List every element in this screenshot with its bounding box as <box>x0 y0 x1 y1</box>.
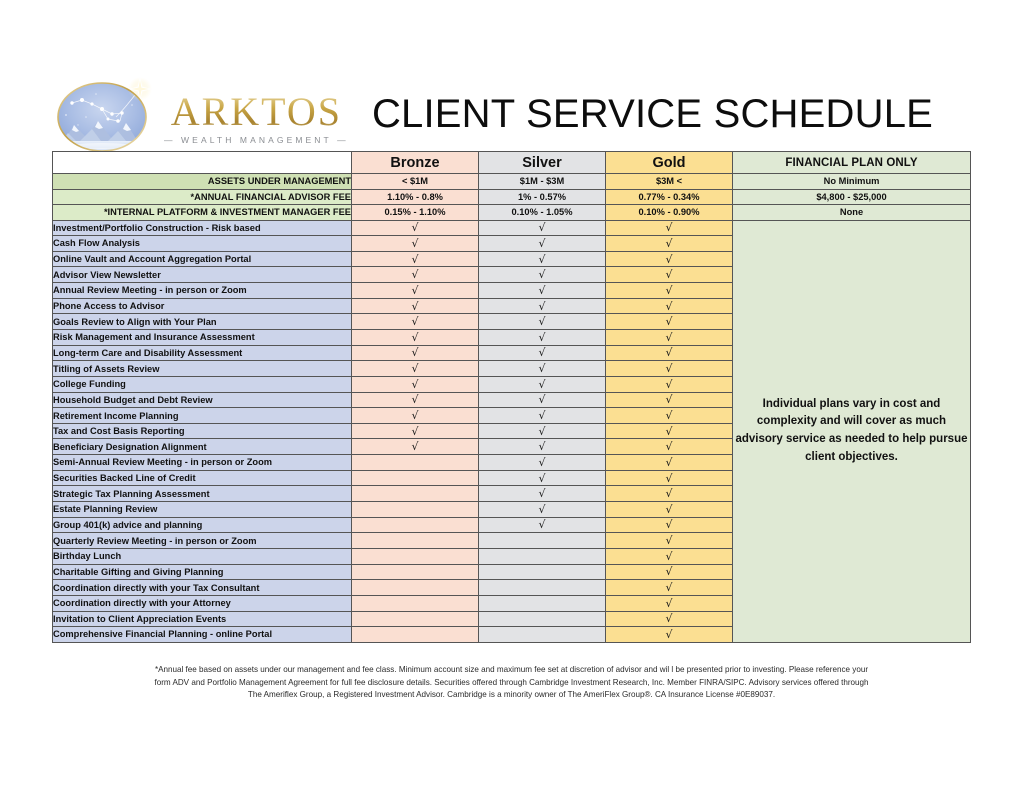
check-icon: √ <box>538 440 545 453</box>
check-icon: √ <box>538 253 545 266</box>
service-cell-gold: √ <box>606 533 733 549</box>
check-icon: √ <box>411 253 418 266</box>
service-cell-bronze: √ <box>352 298 479 314</box>
service-cell-bronze <box>352 548 479 564</box>
service-row-label: Titling of Assets Review <box>53 361 352 377</box>
tier-header-bronze: Bronze <box>352 152 479 174</box>
service-cell-silver: √ <box>479 376 606 392</box>
service-cell-silver: √ <box>479 423 606 439</box>
service-cell-silver: √ <box>479 345 606 361</box>
check-icon: √ <box>665 425 672 438</box>
check-icon: √ <box>665 456 672 469</box>
service-cell-bronze: √ <box>352 392 479 408</box>
service-row-label: Strategic Tax Planning Assessment <box>53 486 352 502</box>
service-cell-gold: √ <box>606 267 733 283</box>
service-cell-gold: √ <box>606 548 733 564</box>
fee-row: ASSETS UNDER MANAGEMENT< $1M$1M - $3M$3M… <box>53 174 971 190</box>
service-row-label: Tax and Cost Basis Reporting <box>53 423 352 439</box>
disclaimer-line-2: form ADV and Portfolio Management Agreem… <box>52 677 971 690</box>
service-cell-gold: √ <box>606 283 733 299</box>
constellation-logo-icon <box>52 77 156 155</box>
service-cell-silver <box>479 548 606 564</box>
check-icon: √ <box>411 425 418 438</box>
fee-value-plan: No Minimum <box>733 174 971 190</box>
service-cell-bronze: √ <box>352 251 479 267</box>
tier-header-silver: Silver <box>479 152 606 174</box>
service-cell-bronze <box>352 517 479 533</box>
fee-value-plan: $4,800 - $25,000 <box>733 189 971 205</box>
service-row-label: College Funding <box>53 376 352 392</box>
service-cell-gold: √ <box>606 392 733 408</box>
service-cell-bronze: √ <box>352 220 479 236</box>
service-cell-gold: √ <box>606 486 733 502</box>
fee-row: *ANNUAL FINANCIAL ADVISOR FEE1.10% - 0.8… <box>53 189 971 205</box>
service-cell-silver: √ <box>479 408 606 424</box>
service-cell-bronze: √ <box>352 423 479 439</box>
disclaimer-line-3: The Ameriflex Group, a Registered Invest… <box>52 689 971 702</box>
service-row-label: Retirement Income Planning <box>53 408 352 424</box>
service-cell-bronze: √ <box>352 267 479 283</box>
check-icon: √ <box>665 503 672 516</box>
check-icon: √ <box>538 315 545 328</box>
check-icon: √ <box>411 237 418 250</box>
fee-row-label: *INTERNAL PLATFORM & INVESTMENT MANAGER … <box>53 205 352 221</box>
service-row-label: Securities Backed Line of Credit <box>53 470 352 486</box>
service-cell-bronze: √ <box>352 439 479 455</box>
check-icon: √ <box>665 487 672 500</box>
disclaimer-footer: *Annual fee based on assets under our ma… <box>52 664 971 702</box>
service-cell-gold: √ <box>606 517 733 533</box>
service-cell-silver: √ <box>479 220 606 236</box>
check-icon: √ <box>665 253 672 266</box>
service-cell-gold: √ <box>606 251 733 267</box>
service-cell-silver: √ <box>479 314 606 330</box>
service-row-label: Estate Planning Review <box>53 502 352 518</box>
service-cell-silver: √ <box>479 439 606 455</box>
check-icon: √ <box>538 456 545 469</box>
check-icon: √ <box>538 487 545 500</box>
service-row-label: Birthday Lunch <box>53 548 352 564</box>
service-cell-silver <box>479 627 606 643</box>
fee-value-gold: 0.10% - 0.90% <box>606 205 733 221</box>
check-icon: √ <box>665 409 672 422</box>
service-row-label: Advisor View Newsletter <box>53 267 352 283</box>
disclaimer-line-1: *Annual fee based on assets under our ma… <box>52 664 971 677</box>
service-cell-gold: √ <box>606 361 733 377</box>
brand-logo: ARKTOS — WEALTH MANAGEMENT — <box>52 80 352 152</box>
service-row: Investment/Portfolio Construction - Risk… <box>53 220 971 236</box>
service-cell-bronze: √ <box>352 408 479 424</box>
check-icon: √ <box>538 518 545 531</box>
service-cell-gold: √ <box>606 611 733 627</box>
service-cell-bronze <box>352 564 479 580</box>
service-cell-gold: √ <box>606 470 733 486</box>
tier-header-row: BronzeSilverGoldFINANCIAL PLAN ONLY <box>53 152 971 174</box>
service-row-label: Charitable Gifting and Giving Planning <box>53 564 352 580</box>
service-row-label: Coordination directly with your Tax Cons… <box>53 580 352 596</box>
service-cell-bronze: √ <box>352 236 479 252</box>
check-icon: √ <box>538 378 545 391</box>
service-cell-silver: √ <box>479 283 606 299</box>
page-title: CLIENT SERVICE SCHEDULE <box>352 92 971 141</box>
tier-header-gold: Gold <box>606 152 733 174</box>
check-icon: √ <box>665 393 672 406</box>
check-icon: √ <box>665 346 672 359</box>
client-service-schedule-table: BronzeSilverGoldFINANCIAL PLAN ONLYASSET… <box>52 151 971 643</box>
service-row-label: Online Vault and Account Aggregation Por… <box>53 251 352 267</box>
service-cell-silver <box>479 580 606 596</box>
service-cell-silver: √ <box>479 470 606 486</box>
service-cell-bronze: √ <box>352 314 479 330</box>
fee-value-silver: 1% - 0.57% <box>479 189 606 205</box>
check-icon: √ <box>411 331 418 344</box>
brand-tagline: — WEALTH MANAGEMENT — <box>164 135 349 145</box>
service-cell-gold: √ <box>606 580 733 596</box>
service-row-label: Semi-Annual Review Meeting - in person o… <box>53 455 352 471</box>
service-cell-silver <box>479 595 606 611</box>
service-row-label: Cash Flow Analysis <box>53 236 352 252</box>
service-cell-gold: √ <box>606 408 733 424</box>
service-cell-silver <box>479 611 606 627</box>
service-cell-bronze <box>352 611 479 627</box>
service-cell-bronze: √ <box>352 376 479 392</box>
service-cell-gold: √ <box>606 298 733 314</box>
check-icon: √ <box>538 346 545 359</box>
check-icon: √ <box>411 362 418 375</box>
service-cell-gold: √ <box>606 220 733 236</box>
service-cell-gold: √ <box>606 345 733 361</box>
check-icon: √ <box>665 378 672 391</box>
header-spacer-cell <box>53 152 352 174</box>
service-cell-bronze <box>352 580 479 596</box>
check-icon: √ <box>665 300 672 313</box>
service-cell-gold: √ <box>606 564 733 580</box>
check-icon: √ <box>665 472 672 485</box>
service-cell-bronze <box>352 486 479 502</box>
check-icon: √ <box>665 331 672 344</box>
service-cell-silver: √ <box>479 236 606 252</box>
fee-value-bronze: 0.15% - 1.10% <box>352 205 479 221</box>
check-icon: √ <box>538 331 545 344</box>
service-row-label: Comprehensive Financial Planning - onlin… <box>53 627 352 643</box>
check-icon: √ <box>411 346 418 359</box>
service-cell-silver <box>479 533 606 549</box>
check-icon: √ <box>538 237 545 250</box>
fee-value-silver: 0.10% - 1.05% <box>479 205 606 221</box>
fee-row: *INTERNAL PLATFORM & INVESTMENT MANAGER … <box>53 205 971 221</box>
check-icon: √ <box>665 628 672 641</box>
check-icon: √ <box>665 362 672 375</box>
check-icon: √ <box>665 440 672 453</box>
service-row-label: Risk Management and Insurance Assessment <box>53 329 352 345</box>
service-row-label: Group 401(k) advice and planning <box>53 517 352 533</box>
service-cell-gold: √ <box>606 236 733 252</box>
service-row-label: Annual Review Meeting - in person or Zoo… <box>53 283 352 299</box>
service-cell-silver: √ <box>479 455 606 471</box>
service-cell-gold: √ <box>606 627 733 643</box>
check-icon: √ <box>665 518 672 531</box>
fee-value-bronze: < $1M <box>352 174 479 190</box>
service-cell-bronze <box>352 502 479 518</box>
service-cell-gold: √ <box>606 595 733 611</box>
service-row-label: Coordination directly with your Attorney <box>53 595 352 611</box>
service-cell-silver: √ <box>479 361 606 377</box>
service-row-label: Phone Access to Advisor <box>53 298 352 314</box>
service-cell-gold: √ <box>606 376 733 392</box>
service-cell-bronze <box>352 595 479 611</box>
service-cell-bronze <box>352 627 479 643</box>
service-cell-silver: √ <box>479 502 606 518</box>
check-icon: √ <box>411 300 418 313</box>
service-row-label: Quarterly Review Meeting - in person or … <box>53 533 352 549</box>
service-cell-bronze <box>352 455 479 471</box>
document-header: ARKTOS — WEALTH MANAGEMENT — CLIENT SERV… <box>52 80 971 152</box>
check-icon: √ <box>665 221 672 234</box>
check-icon: √ <box>538 425 545 438</box>
service-cell-gold: √ <box>606 502 733 518</box>
check-icon: √ <box>411 284 418 297</box>
check-icon: √ <box>665 268 672 281</box>
check-icon: √ <box>665 237 672 250</box>
check-icon: √ <box>411 268 418 281</box>
service-cell-silver: √ <box>479 251 606 267</box>
service-cell-bronze <box>352 533 479 549</box>
service-cell-bronze <box>352 470 479 486</box>
check-icon: √ <box>411 315 418 328</box>
fee-value-bronze: 1.10% - 0.8% <box>352 189 479 205</box>
check-icon: √ <box>538 503 545 516</box>
check-icon: √ <box>538 362 545 375</box>
check-icon: √ <box>538 409 545 422</box>
fee-value-silver: $1M - $3M <box>479 174 606 190</box>
brand-wordmark-group: ARKTOS — WEALTH MANAGEMENT — <box>164 88 349 145</box>
brand-wordmark: ARKTOS <box>171 92 342 132</box>
service-cell-bronze: √ <box>352 283 479 299</box>
check-icon: √ <box>411 440 418 453</box>
service-row-label: Invitation to Client Appreciation Events <box>53 611 352 627</box>
service-cell-bronze: √ <box>352 329 479 345</box>
check-icon: √ <box>538 268 545 281</box>
fee-value-gold: $3M < <box>606 174 733 190</box>
service-cell-silver <box>479 564 606 580</box>
service-cell-silver: √ <box>479 267 606 283</box>
financial-plan-panel: Individual plans vary in cost and comple… <box>733 220 971 642</box>
service-cell-gold: √ <box>606 455 733 471</box>
check-icon: √ <box>411 221 418 234</box>
service-cell-bronze: √ <box>352 345 479 361</box>
check-icon: √ <box>665 565 672 578</box>
service-cell-silver: √ <box>479 392 606 408</box>
check-icon: √ <box>538 393 545 406</box>
check-icon: √ <box>538 221 545 234</box>
fee-value-gold: 0.77% - 0.34% <box>606 189 733 205</box>
check-icon: √ <box>411 409 418 422</box>
service-row-label: Household Budget and Debt Review <box>53 392 352 408</box>
check-icon: √ <box>665 534 672 547</box>
check-icon: √ <box>538 300 545 313</box>
check-icon: √ <box>665 612 672 625</box>
check-icon: √ <box>665 581 672 594</box>
service-cell-gold: √ <box>606 329 733 345</box>
service-cell-silver: √ <box>479 517 606 533</box>
service-row-label: Beneficiary Designation Alignment <box>53 439 352 455</box>
check-icon: √ <box>665 284 672 297</box>
check-icon: √ <box>411 393 418 406</box>
check-icon: √ <box>538 472 545 485</box>
service-cell-bronze: √ <box>352 361 479 377</box>
fee-row-label: ASSETS UNDER MANAGEMENT <box>53 174 352 190</box>
service-cell-gold: √ <box>606 423 733 439</box>
check-icon: √ <box>411 378 418 391</box>
service-cell-gold: √ <box>606 314 733 330</box>
service-cell-silver: √ <box>479 486 606 502</box>
service-row-label: Goals Review to Align with Your Plan <box>53 314 352 330</box>
fee-value-plan: None <box>733 205 971 221</box>
check-icon: √ <box>665 315 672 328</box>
check-icon: √ <box>538 284 545 297</box>
service-cell-silver: √ <box>479 329 606 345</box>
fee-row-label: *ANNUAL FINANCIAL ADVISOR FEE <box>53 189 352 205</box>
service-cell-silver: √ <box>479 298 606 314</box>
plan-column-header: FINANCIAL PLAN ONLY <box>733 152 971 174</box>
service-row-label: Investment/Portfolio Construction - Risk… <box>53 220 352 236</box>
service-row-label: Long-term Care and Disability Assessment <box>53 345 352 361</box>
check-icon: √ <box>665 597 672 610</box>
service-cell-gold: √ <box>606 439 733 455</box>
check-icon: √ <box>665 550 672 563</box>
